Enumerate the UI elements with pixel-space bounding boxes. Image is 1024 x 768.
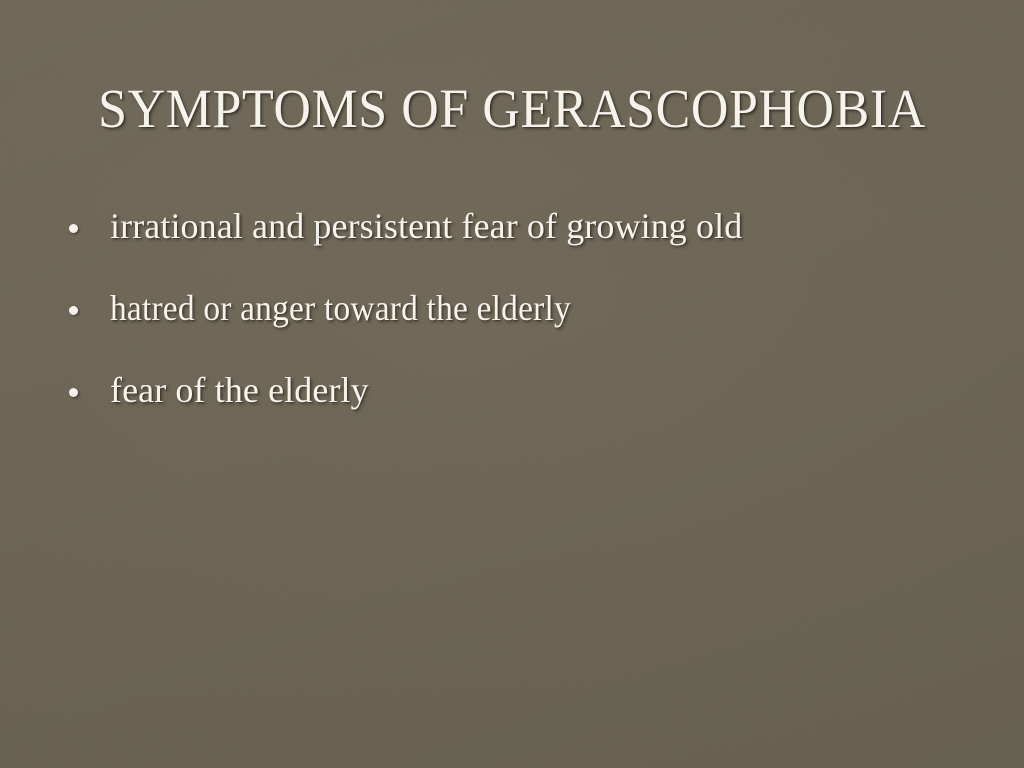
list-item: fear of the elderly xyxy=(62,367,1012,449)
bullet-dot-icon xyxy=(69,224,78,233)
list-item: irrational and persistent fear of growin… xyxy=(62,203,1012,285)
bullet-list: irrational and persistent fear of growin… xyxy=(62,203,1012,449)
bullet-text: hatred or anger toward the elderly xyxy=(110,285,949,331)
slide-content: SYMPTOMS OF GERASCOPHOBIA irrational and… xyxy=(0,0,1024,768)
bullet-text: fear of the elderly xyxy=(110,367,1012,413)
bullet-dot-icon xyxy=(69,388,78,397)
bullet-text: irrational and persistent fear of growin… xyxy=(110,203,1012,249)
list-item: hatred or anger toward the elderly xyxy=(62,285,1012,367)
page-title: SYMPTOMS OF GERASCOPHOBIA xyxy=(28,78,996,140)
bullet-dot-icon xyxy=(69,306,78,315)
presentation-slide: SYMPTOMS OF GERASCOPHOBIA irrational and… xyxy=(0,0,1024,768)
